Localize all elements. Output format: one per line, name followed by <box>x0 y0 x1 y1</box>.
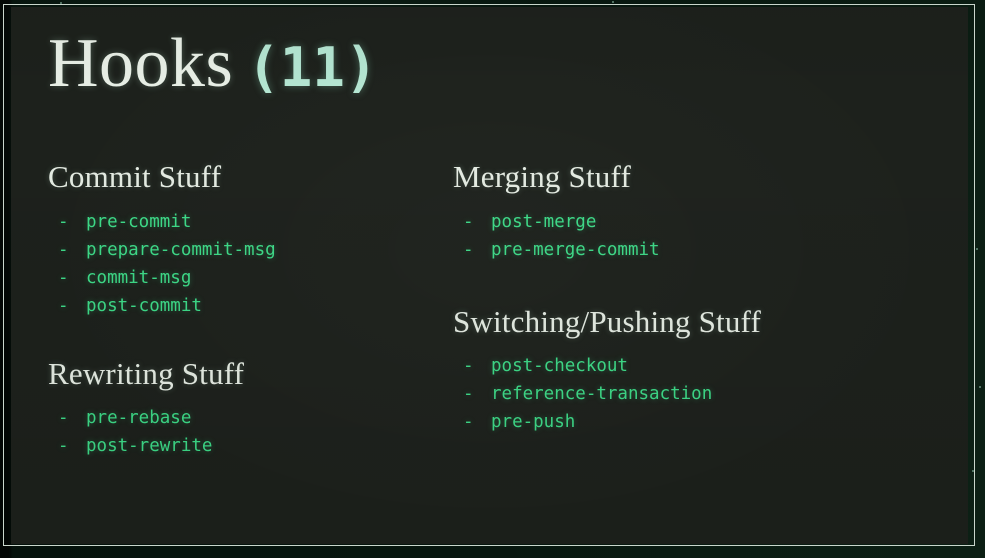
list-item: -pre-merge-commit <box>453 236 923 264</box>
left-column: Commit Stuff -pre-commit -prepare-commit… <box>48 159 438 466</box>
hook-list-rewriting-stuff: -pre-rebase -post-rewrite <box>48 404 438 460</box>
hook-name: post-merge <box>491 212 596 232</box>
bullet-dash: - <box>48 264 86 292</box>
list-item: -pre-rebase <box>48 404 438 432</box>
hook-name: pre-rebase <box>86 408 191 428</box>
list-item: -post-rewrite <box>48 432 438 460</box>
list-item: -post-merge <box>453 208 923 236</box>
title-count-badge: (11) <box>247 36 377 99</box>
list-item: -pre-commit <box>48 208 438 236</box>
list-item: -post-checkout <box>453 352 923 380</box>
hook-name: prepare-commit-msg <box>86 240 276 260</box>
hook-name: reference-transaction <box>491 384 712 404</box>
bullet-dash: - <box>453 236 491 264</box>
hook-name: pre-merge-commit <box>491 240 660 260</box>
right-column: Merging Stuff -post-merge -pre-merge-com… <box>453 159 923 442</box>
title-text: Hooks <box>48 25 233 102</box>
list-item: -reference-transaction <box>453 380 923 408</box>
bullet-dash: - <box>453 408 491 436</box>
hook-name: pre-commit <box>86 212 191 232</box>
section-heading-rewriting-stuff: Rewriting Stuff <box>48 356 438 393</box>
hook-list-merging-stuff: -post-merge -pre-merge-commit <box>453 208 923 264</box>
list-item: -prepare-commit-msg <box>48 236 438 264</box>
bullet-dash: - <box>453 352 491 380</box>
bullet-dash: - <box>453 380 491 408</box>
list-item: -pre-push <box>453 408 923 436</box>
section-heading-merging-stuff: Merging Stuff <box>453 159 923 196</box>
hook-list-switching-pushing-stuff: -post-checkout -reference-transaction -p… <box>453 352 923 436</box>
bullet-dash: - <box>453 208 491 236</box>
bullet-dash: - <box>48 236 86 264</box>
section-heading-switching-pushing-stuff: Switching/Pushing Stuff <box>453 304 923 341</box>
bullet-dash: - <box>48 404 86 432</box>
slide-screenshot: Hooks(11) Commit Stuff -pre-commit -prep… <box>0 0 985 558</box>
hook-name: post-rewrite <box>86 436 212 456</box>
bullet-dash: - <box>48 208 86 236</box>
section-commit-stuff: Commit Stuff -pre-commit -prepare-commit… <box>48 159 438 320</box>
bullet-dash: - <box>48 292 86 320</box>
slide-title: Hooks(11) <box>48 29 377 99</box>
hook-name: commit-msg <box>86 268 191 288</box>
hook-list-commit-stuff: -pre-commit -prepare-commit-msg -commit-… <box>48 208 438 320</box>
section-merging-stuff: Merging Stuff -post-merge -pre-merge-com… <box>453 159 923 264</box>
list-item: -commit-msg <box>48 264 438 292</box>
hook-name: post-commit <box>86 296 202 316</box>
list-item: -post-commit <box>48 292 438 320</box>
hook-name: post-checkout <box>491 356 628 376</box>
section-heading-commit-stuff: Commit Stuff <box>48 159 438 196</box>
section-rewriting-stuff: Rewriting Stuff -pre-rebase -post-rewrit… <box>48 356 438 461</box>
bullet-dash: - <box>48 432 86 460</box>
section-switching-pushing-stuff: Switching/Pushing Stuff -post-checkout -… <box>453 304 923 437</box>
slide-content-area: Hooks(11) Commit Stuff -pre-commit -prep… <box>11 7 968 544</box>
hook-name: pre-push <box>491 412 575 432</box>
